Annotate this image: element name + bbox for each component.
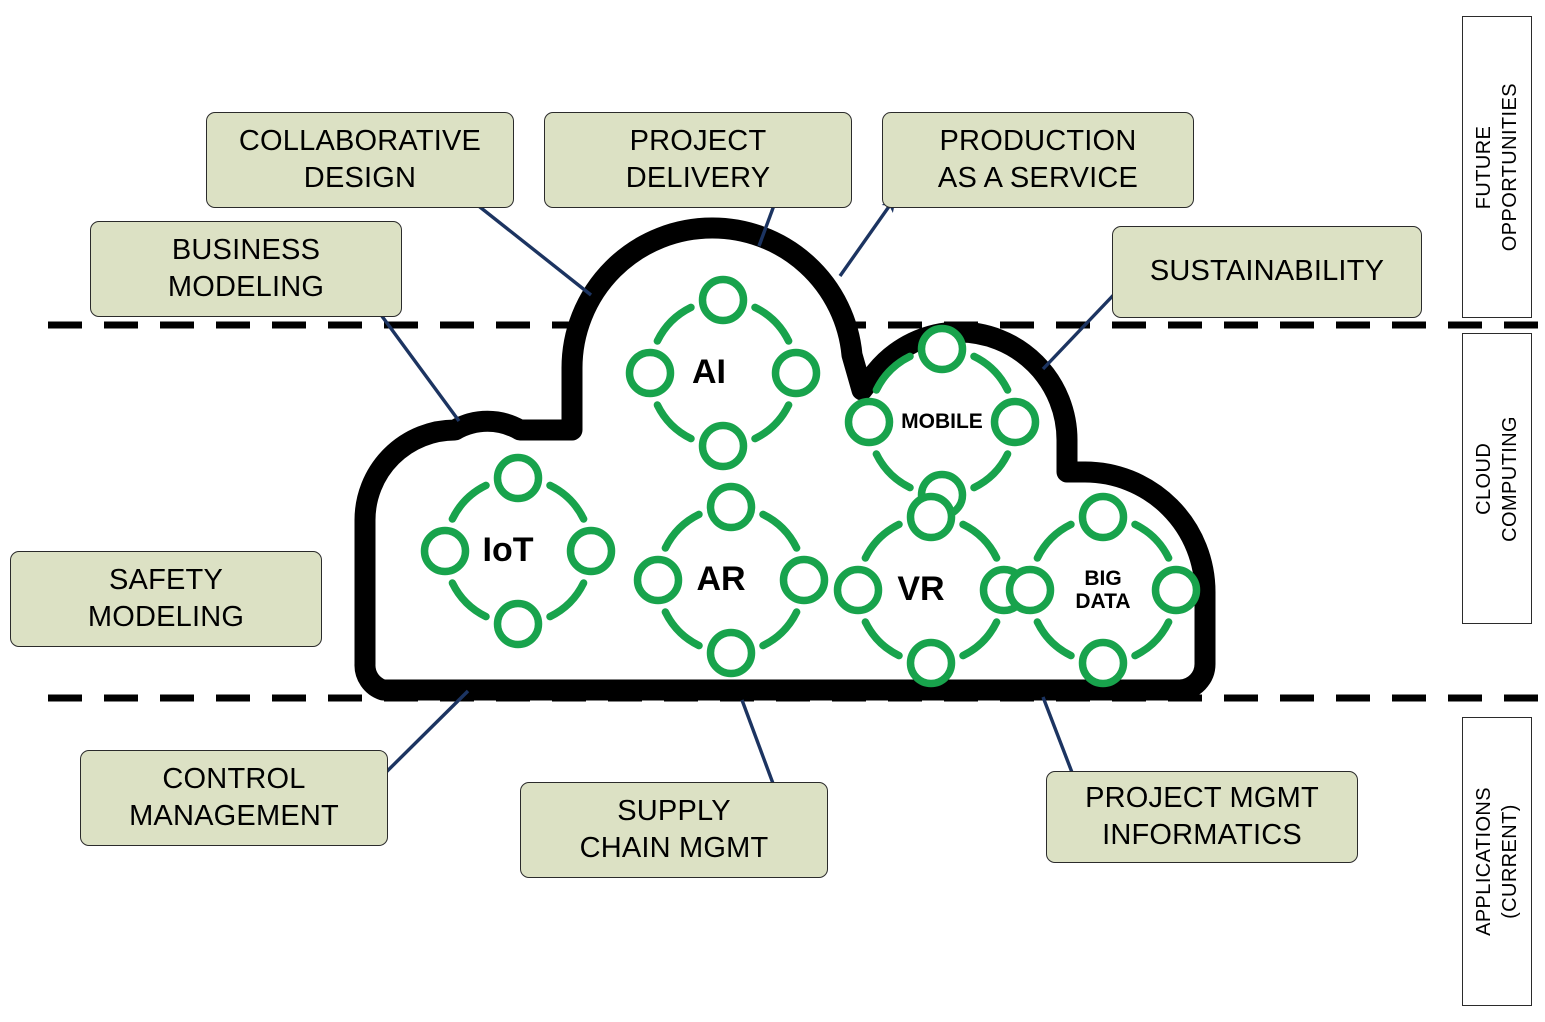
- label-box-safety-modeling[interactable]: SAFETY MODELING: [10, 551, 322, 647]
- diagram-canvas: AIIoTARMOBILEVRBIG DATA COLLABORATIVE DE…: [0, 0, 1545, 1022]
- node-satellite-1: [1156, 570, 1197, 611]
- node-satellite-2: [703, 426, 744, 467]
- node-satellite-1: [776, 353, 817, 394]
- node-satellite-1: [995, 402, 1036, 443]
- node-satellite-1: [571, 531, 612, 572]
- arrow-production-as-service: [840, 198, 895, 276]
- node-satellite-0: [498, 458, 539, 499]
- node-satellite-0: [1083, 497, 1124, 538]
- node-satellite-3: [1010, 570, 1051, 611]
- side-panel-label-cloud-computing: CLOUD COMPUTING: [1471, 416, 1523, 542]
- label-box-business-modeling[interactable]: BUSINESS MODELING: [90, 221, 402, 317]
- node-satellite-0: [922, 329, 963, 370]
- label-box-supply-chain-mgmt[interactable]: SUPPLY CHAIN MGMT: [520, 782, 828, 878]
- node-satellite-0: [703, 280, 744, 321]
- node-satellite-2: [498, 604, 539, 645]
- label-box-project-mgmt-info[interactable]: PROJECT MGMT INFORMATICS: [1046, 771, 1358, 863]
- label-box-project-delivery[interactable]: PROJECT DELIVERY: [544, 112, 852, 208]
- cloud-shape: [365, 228, 1205, 690]
- side-panel-label-applications-current: APPLICATIONS (CURRENT): [1471, 787, 1523, 936]
- node-satellite-2: [711, 633, 752, 674]
- node-satellite-3: [838, 570, 879, 611]
- node-satellite-1: [784, 560, 825, 601]
- node-satellite-3: [638, 560, 679, 601]
- node-satellite-3: [630, 353, 671, 394]
- node-satellite-3: [849, 402, 890, 443]
- label-box-sustainability[interactable]: SUSTAINABILITY: [1112, 226, 1422, 318]
- label-box-production-as-service[interactable]: PRODUCTION AS A SERVICE: [882, 112, 1194, 208]
- node-satellite-0: [711, 487, 752, 528]
- side-panel-cloud-computing: CLOUD COMPUTING: [1462, 333, 1532, 624]
- label-box-control-management[interactable]: CONTROL MANAGEMENT: [80, 750, 388, 846]
- label-box-collaborative-design[interactable]: COLLABORATIVE DESIGN: [206, 112, 514, 208]
- node-satellite-2: [911, 643, 952, 684]
- side-panel-label-future-opportunities: FUTURE OPPORTUNITIES: [1471, 83, 1523, 251]
- node-satellite-2: [1083, 643, 1124, 684]
- side-panel-future-opportunities: FUTURE OPPORTUNITIES: [1462, 16, 1532, 318]
- side-panel-applications-current: APPLICATIONS (CURRENT): [1462, 717, 1532, 1006]
- node-satellite-0: [911, 497, 952, 538]
- node-satellite-3: [425, 531, 466, 572]
